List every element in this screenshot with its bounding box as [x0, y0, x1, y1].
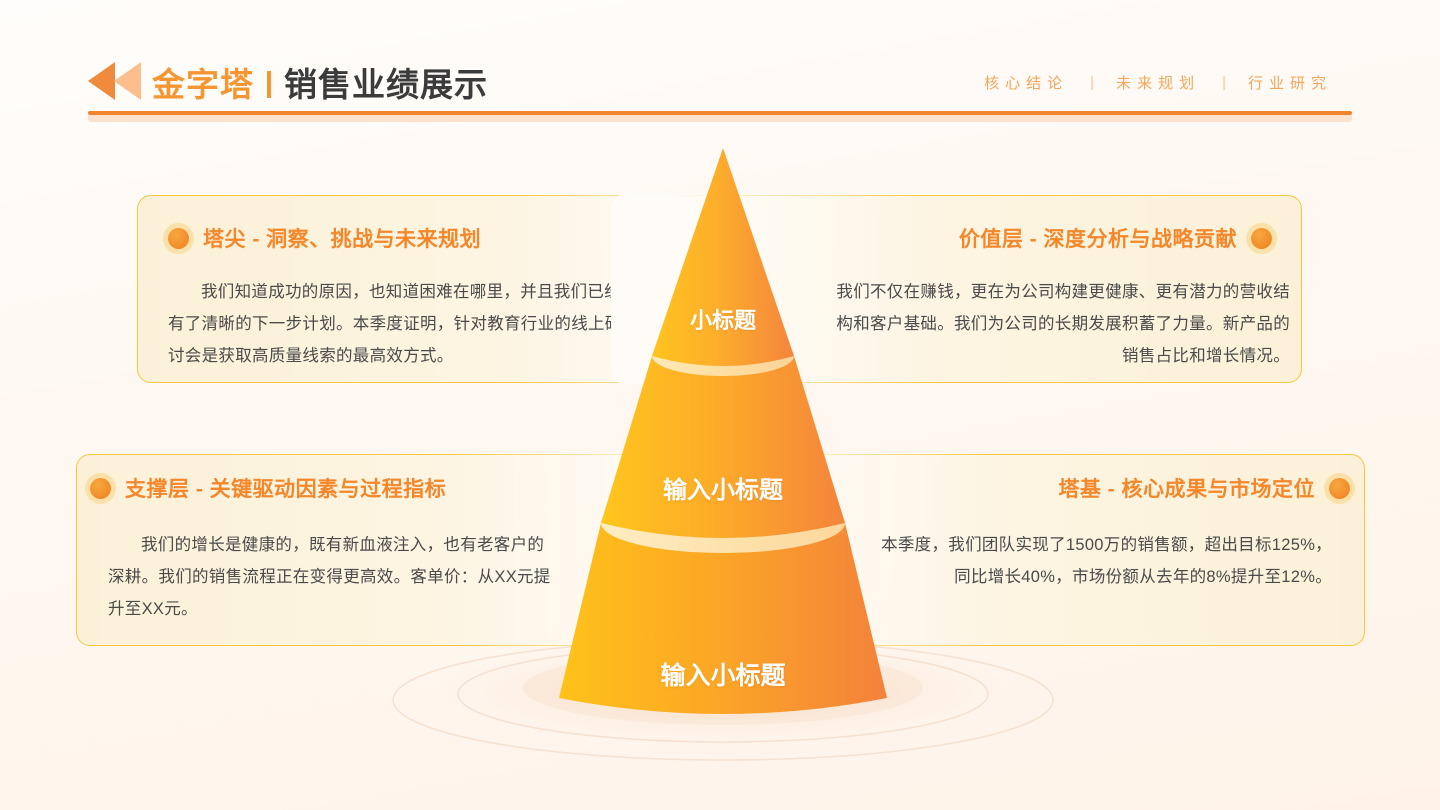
chevron-left-icon-front — [88, 62, 115, 100]
slide-canvas: 金字塔 销售业绩展示 核心结论 | 未来规划 | 行业研究 塔尖 - 洞察、挑战… — [0, 0, 1440, 810]
cone-tier-3-label: 输入小标题 — [603, 656, 843, 692]
nav-divider-1: | — [1088, 74, 1096, 91]
slide-header: 金字塔 销售业绩展示 核心结论 | 未来规划 | 行业研究 — [0, 0, 1440, 128]
double-chevron-left-icon — [88, 62, 150, 100]
dot-bullet-icon — [168, 228, 189, 249]
card-bottom-right-header: 塔基 - 核心成果与市场定位 — [1058, 473, 1350, 503]
card-bottom-left-body: 我们的增长是健康的，既有新血液注入，也有老客户的深耕。我们的销售流程正在变得更高… — [108, 529, 560, 625]
dot-bullet-icon — [1329, 478, 1350, 499]
chevron-left-icon-back — [114, 62, 141, 100]
dot-bullet-icon — [90, 478, 111, 499]
nav-divider-2: | — [1220, 74, 1228, 91]
card-bottom-left-header: 支撑层 - 关键驱动因素与过程指标 — [90, 473, 446, 503]
card-bottom-right-title: 塔基 - 核心成果与市场定位 — [1058, 473, 1315, 503]
page-title-main: 金字塔 — [152, 58, 254, 106]
dot-bullet-icon — [1251, 228, 1272, 249]
card-top-left-title: 塔尖 - 洞察、挑战与未来规划 — [203, 223, 481, 253]
card-top-left-body: 我们知道成功的原因，也知道困难在哪里，并且我们已经有了清晰的下一步计划。本季度证… — [168, 276, 623, 372]
card-top-right-body: 我们不仅在赚钱，更在为公司构建更健康、更有潜力的营收结构和客户基础。我们为公司的… — [835, 276, 1290, 372]
card-top-right-title: 价值层 - 深度分析与战略贡献 — [959, 223, 1237, 253]
card-bottom-left-title: 支撑层 - 关键驱动因素与过程指标 — [125, 473, 446, 503]
header-divider-glow — [88, 115, 1352, 122]
nav-item-industry-research[interactable]: 行业研究 — [1228, 72, 1352, 93]
header-nav: 核心结论 | 未来规划 | 行业研究 — [964, 72, 1352, 93]
card-bottom-right-body: 本季度，我们团队实现了1500万的销售额，超出目标125%，同比增长40%，市场… — [880, 529, 1332, 593]
title-separator-bar — [267, 71, 271, 98]
nav-item-core-conclusion[interactable]: 核心结论 — [964, 72, 1088, 93]
page-title: 金字塔 销售业绩展示 — [152, 58, 488, 106]
page-title-sub: 销售业绩展示 — [284, 58, 488, 106]
card-top-right-header: 价值层 - 深度分析与战略贡献 — [959, 223, 1272, 253]
nav-item-future-plan[interactable]: 未来规划 — [1096, 72, 1220, 93]
card-top-left-header: 塔尖 - 洞察、挑战与未来规划 — [168, 223, 481, 253]
cone-ground-rings — [393, 638, 1053, 760]
